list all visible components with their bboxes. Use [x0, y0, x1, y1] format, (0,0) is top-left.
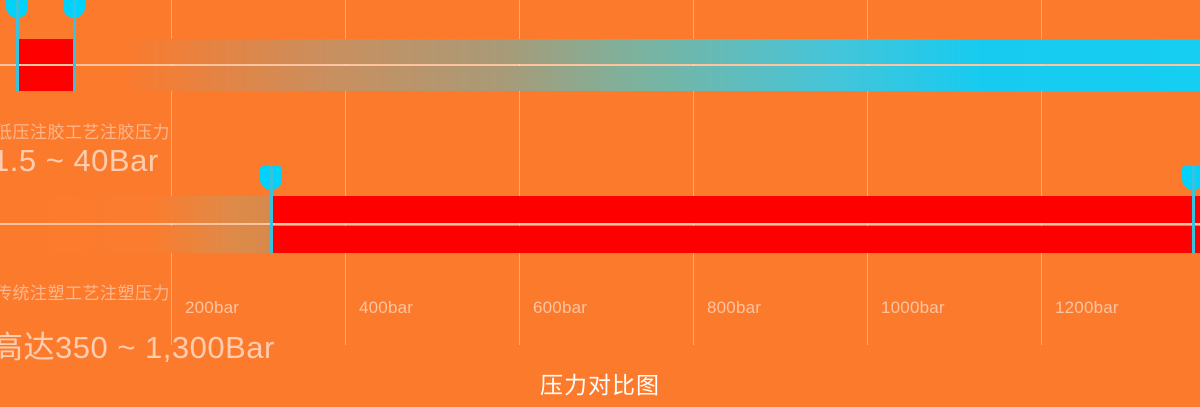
marker-stem	[270, 166, 273, 253]
annotation-label-low-pressure: 低压注胶工艺注胶压力	[0, 118, 170, 143]
annotation-value-traditional: 高达350 ~ 1,300Bar	[0, 322, 275, 367]
marker-stem	[16, 0, 19, 91]
chart-title: 压力对比图	[0, 366, 1200, 400]
axis-tick-label-800: 800bar	[707, 298, 761, 318]
series-bar-low-pressure-row-2	[0, 66, 1200, 91]
series-bar-low-pressure-fill-1	[16, 39, 74, 64]
series-bar-traditional-row-1	[0, 196, 1200, 223]
pressure-comparison-chart: 200bar 400bar 600bar 800bar 1000bar 1200…	[0, 0, 1200, 407]
series-band-low-pressure	[0, 39, 1200, 91]
axis-tick-label-1200: 1200bar	[1055, 298, 1119, 318]
series-band-traditional	[0, 196, 1200, 253]
marker-pin-icon	[1182, 166, 1200, 190]
series-bar-low-pressure-fill-2	[16, 66, 74, 91]
marker-stem	[73, 0, 76, 91]
marker-stem	[1192, 166, 1195, 253]
band-separator	[0, 223, 1200, 225]
axis-tick-label-600: 600bar	[533, 298, 587, 318]
annotation-value-low-pressure: 1.5 ~ 40Bar	[0, 143, 159, 179]
axis-tick-label-400: 400bar	[359, 298, 413, 318]
axis-tick-label-1000: 1000bar	[881, 298, 945, 318]
series-bar-low-pressure-row-1	[0, 39, 1200, 64]
annotation-label-traditional: 传统注塑工艺注塑压力	[0, 279, 170, 304]
axis-tick-label-200: 200bar	[185, 298, 239, 318]
series-bar-traditional-row-2	[0, 226, 1200, 253]
